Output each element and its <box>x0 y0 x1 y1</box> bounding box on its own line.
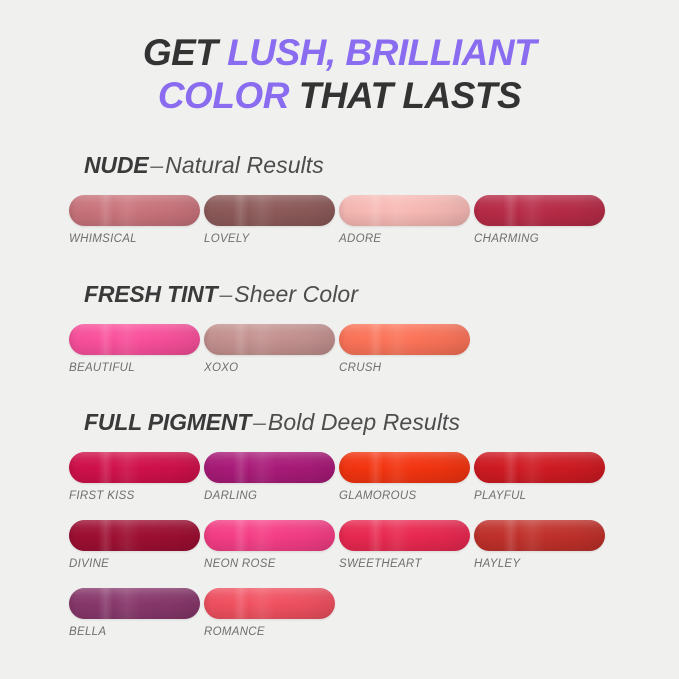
headline-accent-1: LUSH, BRILLIANT <box>227 32 536 73</box>
shade-swatch[interactable] <box>69 588 200 619</box>
shade-cell[interactable]: XOXO <box>204 324 339 374</box>
shade-swatch[interactable] <box>204 452 335 483</box>
shade-label: CRUSH <box>339 362 474 374</box>
swatch-grid-nude: WHIMSICAL LOVELY ADORE CHARMING <box>69 195 614 245</box>
shade-label: ADORE <box>339 233 474 245</box>
section-fresh-tint-title: FRESH TINT <box>84 281 217 307</box>
section-nude-heading: NUDE–Natural Results <box>84 152 679 179</box>
shade-swatch[interactable] <box>339 195 470 226</box>
section-full-pigment: FULL PIGMENT–Bold Deep Results FIRST KIS… <box>0 409 679 638</box>
section-nude: NUDE–Natural Results WHIMSICAL LOVELY AD… <box>0 152 679 245</box>
shade-swatch[interactable] <box>339 520 470 551</box>
section-fresh-tint-subtitle: Sheer Color <box>234 281 358 307</box>
shade-cell[interactable]: ROMANCE <box>204 588 339 638</box>
shade-label: FIRST KISS <box>69 490 204 502</box>
product-shade-chart: GET LUSH, BRILLIANT COLOR THAT LASTS NUD… <box>0 0 679 679</box>
shade-cell[interactable]: FIRST KISS <box>69 452 204 502</box>
shade-label: DARLING <box>204 490 339 502</box>
section-nude-title: NUDE <box>84 152 148 178</box>
shade-label: HAYLEY <box>474 558 609 570</box>
section-nude-subtitle: Natural Results <box>165 152 324 178</box>
section-full-pigment-separator: – <box>251 409 268 435</box>
shade-swatch[interactable] <box>69 195 200 226</box>
shade-cell[interactable]: BEAUTIFUL <box>69 324 204 374</box>
headline-dark-2: THAT LASTS <box>299 75 521 116</box>
page-title: GET LUSH, BRILLIANT COLOR THAT LASTS <box>0 31 679 117</box>
shade-label: CHARMING <box>474 233 609 245</box>
headline-accent-2: COLOR <box>158 75 299 116</box>
shade-cell[interactable]: CRUSH <box>339 324 474 374</box>
shade-label: BEAUTIFUL <box>69 362 204 374</box>
section-full-pigment-title: FULL PIGMENT <box>84 409 251 435</box>
shade-label: BELLA <box>69 626 204 638</box>
shade-cell[interactable]: NEON ROSE <box>204 520 339 570</box>
shade-label: LOVELY <box>204 233 339 245</box>
section-fresh-tint: FRESH TINT–Sheer Color BEAUTIFUL XOXO CR… <box>0 281 679 374</box>
shade-cell[interactable]: LOVELY <box>204 195 339 245</box>
section-nude-separator: – <box>148 152 165 178</box>
section-fresh-tint-separator: – <box>217 281 234 307</box>
shade-label: WHIMSICAL <box>69 233 204 245</box>
section-full-pigment-subtitle: Bold Deep Results <box>268 409 460 435</box>
shade-swatch[interactable] <box>69 452 200 483</box>
shade-cell[interactable]: SWEETHEART <box>339 520 474 570</box>
shade-swatch[interactable] <box>204 588 335 619</box>
shade-cell[interactable]: BELLA <box>69 588 204 638</box>
headline-line-2: COLOR THAT LASTS <box>0 74 679 117</box>
shade-swatch[interactable] <box>339 324 470 355</box>
shade-swatch[interactable] <box>69 324 200 355</box>
shade-cell[interactable]: ADORE <box>339 195 474 245</box>
headline-line-1: GET LUSH, BRILLIANT <box>0 31 679 74</box>
shade-swatch[interactable] <box>204 520 335 551</box>
section-full-pigment-heading: FULL PIGMENT–Bold Deep Results <box>84 409 679 436</box>
shade-cell[interactable]: GLAMOROUS <box>339 452 474 502</box>
shade-swatch[interactable] <box>474 520 605 551</box>
shade-swatch[interactable] <box>204 324 335 355</box>
shade-swatch[interactable] <box>204 195 335 226</box>
shade-swatch[interactable] <box>339 452 470 483</box>
shade-cell[interactable]: CHARMING <box>474 195 609 245</box>
shade-label: ROMANCE <box>204 626 339 638</box>
section-fresh-tint-heading: FRESH TINT–Sheer Color <box>84 281 679 308</box>
shade-cell[interactable]: PLAYFUL <box>474 452 609 502</box>
shade-cell[interactable]: WHIMSICAL <box>69 195 204 245</box>
shade-label: XOXO <box>204 362 339 374</box>
shade-swatch[interactable] <box>69 520 200 551</box>
shade-label: PLAYFUL <box>474 490 609 502</box>
swatch-grid-full-pigment: FIRST KISS DARLING GLAMOROUS PLAYFUL DIV… <box>69 452 614 638</box>
shade-label: NEON ROSE <box>204 558 339 570</box>
shade-cell[interactable]: DIVINE <box>69 520 204 570</box>
shade-cell[interactable]: HAYLEY <box>474 520 609 570</box>
headline-dark-1: GET <box>143 32 227 73</box>
shade-label: SWEETHEART <box>339 558 474 570</box>
shade-cell[interactable]: DARLING <box>204 452 339 502</box>
shade-label: DIVINE <box>69 558 204 570</box>
swatch-grid-fresh-tint: BEAUTIFUL XOXO CRUSH <box>69 324 614 374</box>
shade-swatch[interactable] <box>474 452 605 483</box>
shade-swatch[interactable] <box>474 195 605 226</box>
shade-label: GLAMOROUS <box>339 490 474 502</box>
